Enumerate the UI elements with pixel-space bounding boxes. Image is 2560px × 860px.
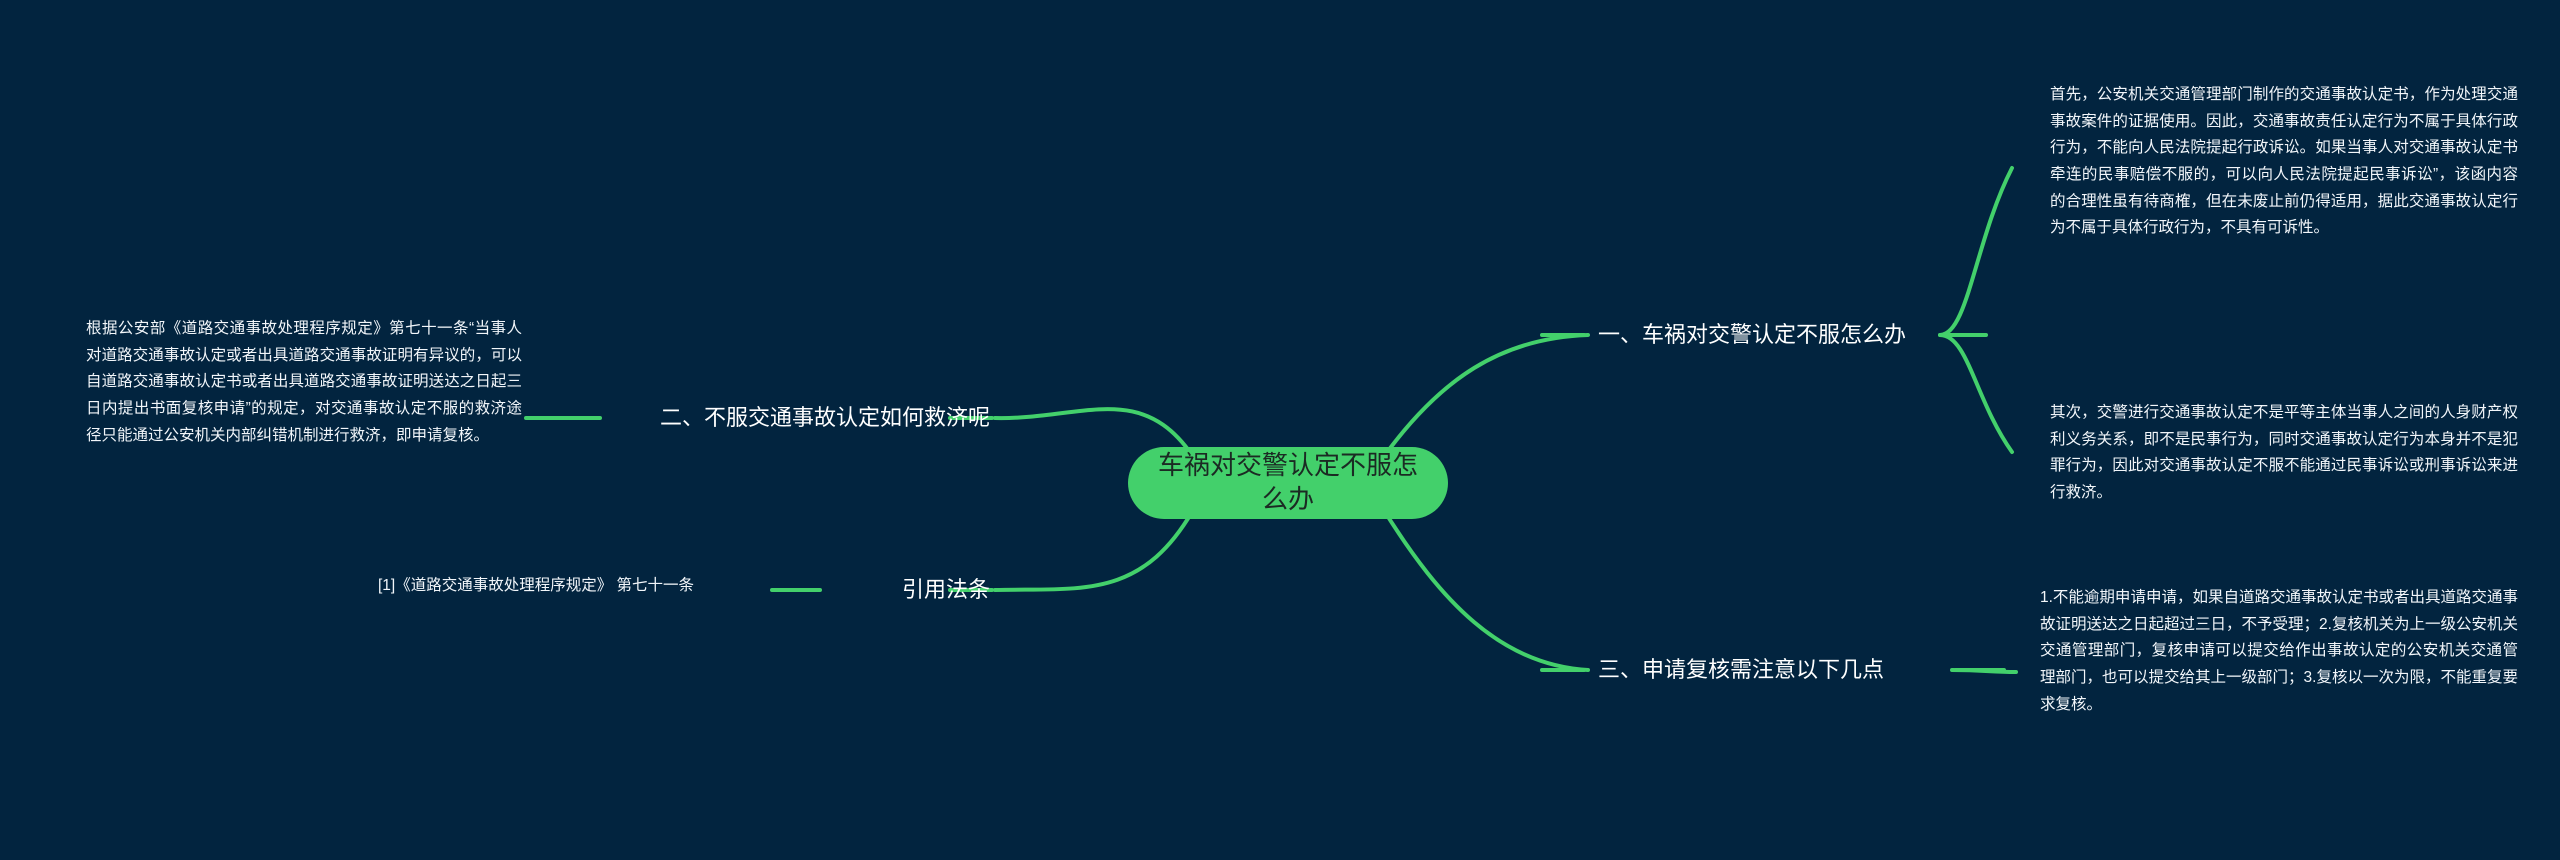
link-branch-1-leaf-1 <box>1940 168 2012 335</box>
leaf-text-1-2: 其次，交警进行交通事故认定不是平等主体当事人之间的人身财产权利义务关系，即不是民… <box>2050 400 2518 507</box>
leaf-text-4-1: [1]《道路交通事故处理程序规定》 第七十一条 <box>378 573 758 600</box>
branch-label-2[interactable]: 二、不服交通事故认定如何救济呢 <box>660 403 990 433</box>
dash-branch-1-out <box>1942 333 1988 337</box>
dash-branch-3 <box>1540 668 1586 672</box>
dash-branch-2-out <box>524 416 570 420</box>
dash-branch-4-out <box>772 588 818 592</box>
dash-branch-3-out <box>1954 668 2006 672</box>
link-branch-1-leaf-2 <box>1940 335 2012 452</box>
leaf-text-1-1: 首先，公安机关交通管理部门制作的交通事故认定书，作为处理交通事故案件的证据使用。… <box>2050 82 2518 242</box>
branch-label-4[interactable]: 引用法条 <box>902 575 990 605</box>
branch-label-3[interactable]: 三、申请复核需注意以下几点 <box>1598 655 1884 685</box>
link-central-branch-4 <box>995 512 1192 590</box>
branch-label-1[interactable]: 一、车祸对交警认定不服怎么办 <box>1598 320 1906 350</box>
link-central-branch-3 <box>1385 512 1588 670</box>
link-central-branch-1 <box>1385 335 1588 455</box>
dash-branch-1 <box>1540 333 1586 337</box>
mindmap-canvas: 车祸对交警认定不服怎么办 一、车祸对交警认定不服怎么办 首先，公安机关交通管理部… <box>0 0 2560 860</box>
leaf-text-3-1: 1.不能逾期申请申请，如果自道路交通事故认定书或者出具道路交通事故证明送达之日起… <box>2040 585 2518 718</box>
leaf-text-2-1: 根据公安部《道路交通事故处理程序规定》第七十一条“当事人对道路交通事故认定或者出… <box>86 316 522 449</box>
central-node[interactable]: 车祸对交警认定不服怎么办 <box>1128 447 1448 519</box>
